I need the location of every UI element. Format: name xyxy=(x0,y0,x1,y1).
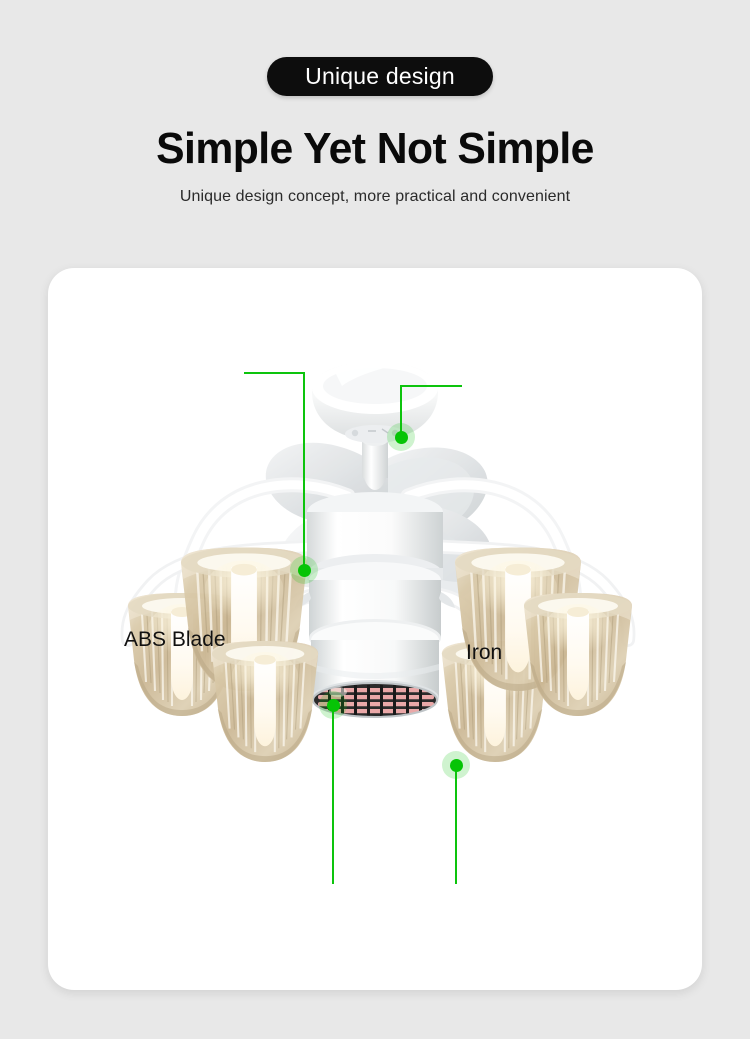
hotspot-dot-iron xyxy=(387,423,415,451)
shade-lower-left xyxy=(212,641,318,762)
product-diagram-card: ABS Blade Iron Anti-glare LED lamp Glass… xyxy=(48,268,702,990)
badge-label: Unique design xyxy=(305,65,455,88)
annotation-label-abs-blade: ABS Blade xyxy=(124,629,226,650)
leader-line-abs-blade-horizontal xyxy=(244,372,304,374)
hotspot-dot-anti-glare-lamp xyxy=(319,691,347,719)
leader-line-iron-horizontal xyxy=(400,385,462,387)
annotation-label-iron: Iron xyxy=(466,642,502,663)
hotspot-dot-abs-blade xyxy=(290,556,318,584)
unique-design-badge: Unique design xyxy=(267,57,493,96)
leader-line-anti-glare-vertical xyxy=(332,708,334,884)
page-title: Simple Yet Not Simple xyxy=(11,126,739,173)
leader-line-glass-lampshade-vertical xyxy=(455,768,457,884)
leader-line-abs-blade-vertical xyxy=(303,372,305,570)
page-subtitle: Unique design concept, more practical an… xyxy=(0,188,750,206)
hotspot-dot-glass-lampshade xyxy=(442,751,470,779)
infographic-page: Unique design Simple Yet Not Simple Uniq… xyxy=(0,0,750,1039)
motor-housing xyxy=(295,492,455,717)
